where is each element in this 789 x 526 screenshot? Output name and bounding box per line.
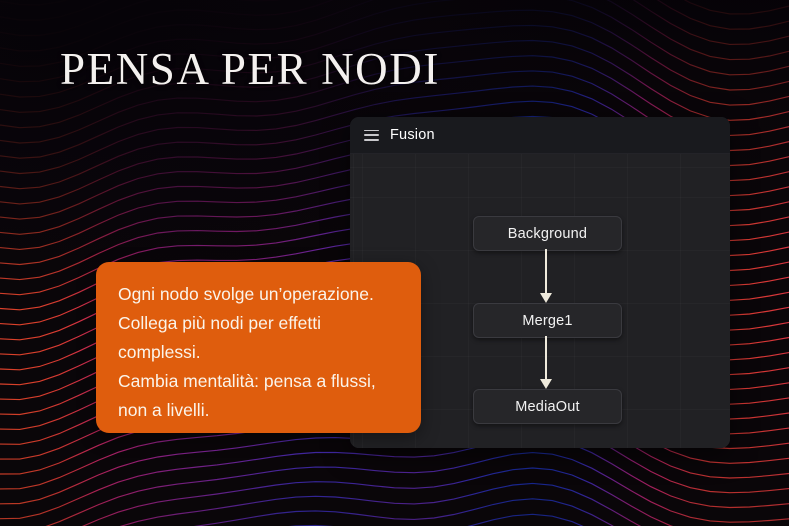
link-shaft [545,249,547,294]
arrowhead-icon [540,293,552,303]
node-label: Merge1 [522,313,572,329]
callout-box: Ogni nodo svolge un’operazione. Collega … [96,262,421,433]
callout-text: Ogni nodo svolge un’operazione. Collega … [118,280,401,425]
node-mediaout[interactable]: MediaOut [473,389,622,424]
hamburger-icon[interactable] [364,130,379,141]
arrowhead-icon [540,379,552,389]
page-title: PENSA PER NODI [60,43,440,95]
slide-canvas: PENSA PER NODI Fusion Background Merge1 [0,0,789,526]
link-background-to-merge1 [540,249,553,303]
node-label: MediaOut [515,399,579,415]
node-label: Background [508,226,587,242]
panel-header: Fusion [350,117,730,154]
node-background[interactable]: Background [473,216,622,251]
panel-title: Fusion [390,127,435,143]
link-shaft [545,336,547,380]
node-merge1[interactable]: Merge1 [473,303,622,338]
link-merge1-to-mediaout [540,336,553,389]
